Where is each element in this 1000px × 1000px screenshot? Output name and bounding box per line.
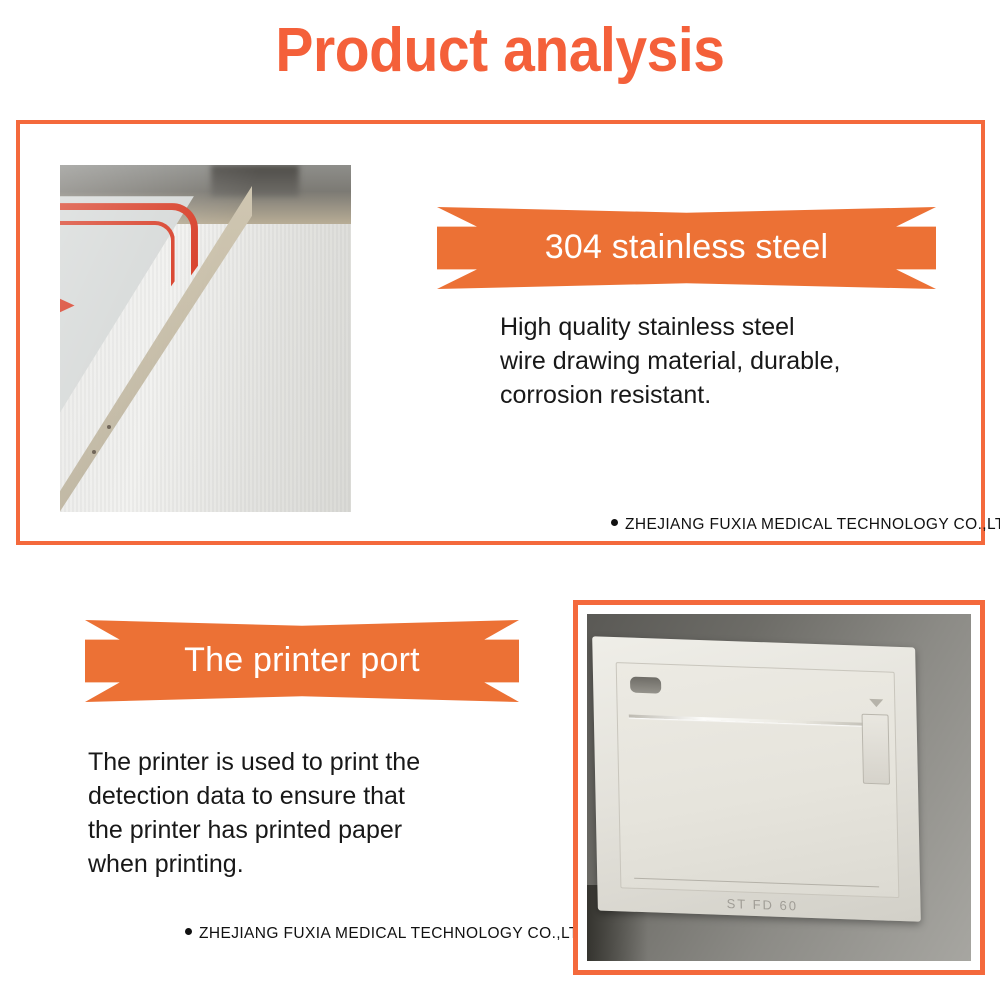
- page-title: Product analysis: [40, 18, 960, 83]
- company-name: ZHEJIANG FUXIA MEDICAL TECHNOLOGY CO.,LT…: [199, 925, 595, 942]
- bullet-dot-icon: [185, 928, 192, 935]
- printer-door-latch: [862, 714, 890, 784]
- banner-stainless-steel: 304 stainless steel: [437, 207, 936, 289]
- company-credit-printer-port: ZHEJIANG FUXIA MEDICAL TECHNOLOGY CO.,LT…: [185, 925, 595, 943]
- company-credit-stainless-steel: ZHEJIANG FUXIA MEDICAL TECHNOLOGY CO.,LT…: [611, 516, 1000, 534]
- description-printer-port: The printer is used to print the detecti…: [88, 745, 488, 881]
- steel-background-shadow: [211, 165, 298, 196]
- description-stainless-steel: High quality stainless steel wire drawin…: [500, 310, 920, 412]
- company-name: ZHEJIANG FUXIA MEDICAL TECHNOLOGY CO.,LT…: [625, 516, 1000, 533]
- printer-door-seam: [634, 878, 878, 888]
- product-photo-stainless-steel: [60, 165, 351, 512]
- banner-printer-port: The printer port: [85, 620, 519, 702]
- printer-door-panel: [615, 661, 899, 898]
- printer-paper-slot: [628, 715, 878, 727]
- bullet-dot-icon: [611, 519, 618, 526]
- printer-open-arrow-icon: [869, 698, 883, 706]
- section-frame-printer-port: ST FD 60: [573, 600, 985, 975]
- banner-label: 304 stainless steel: [545, 228, 829, 269]
- steel-speck: [92, 450, 96, 454]
- printer-model-emboss: ST FD 60: [726, 896, 798, 914]
- printer-indicator-icon: [630, 676, 661, 693]
- steel-speck: [107, 425, 111, 429]
- product-photo-printer-port: ST FD 60: [587, 614, 971, 961]
- printer-bezel: ST FD 60: [592, 636, 920, 922]
- banner-label: The printer port: [184, 641, 420, 682]
